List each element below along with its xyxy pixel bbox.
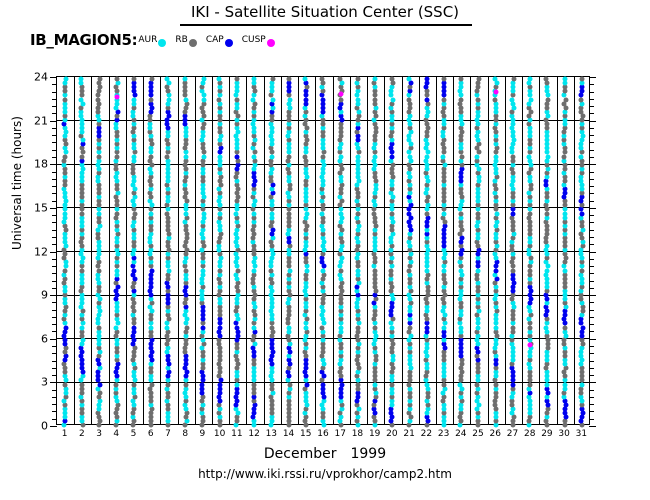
day-column <box>195 77 212 424</box>
day-column <box>419 77 436 424</box>
x-axis-tick-label: 29 <box>541 429 552 439</box>
data-point <box>97 77 102 82</box>
data-point <box>63 77 68 82</box>
day-column <box>488 77 505 424</box>
x-axis-tick-label: 28 <box>524 429 535 439</box>
data-point <box>338 77 343 82</box>
day-column <box>74 77 91 424</box>
title-underline <box>180 24 472 26</box>
day-column <box>212 77 229 424</box>
x-axis-tick-label: 3 <box>96 429 102 439</box>
data-point <box>149 77 154 82</box>
legend: IB_MAGION5: AURRBCAPCUSP <box>30 30 275 50</box>
legend-item-cusp: CUSP <box>242 34 275 47</box>
data-point <box>544 77 549 82</box>
x-axis-tick-label: 10 <box>214 429 225 439</box>
y-axis-tick <box>50 77 57 78</box>
data-point <box>424 77 429 82</box>
plot-area: 03691215182124 <box>56 76 590 425</box>
data-point <box>252 77 257 82</box>
x-axis-tick-label: 16 <box>317 429 328 439</box>
y-axis-tick-label: 9 <box>41 289 48 302</box>
x-axis-tick-label: 21 <box>403 429 414 439</box>
day-column <box>126 77 143 424</box>
day-column <box>333 77 350 424</box>
day-column <box>178 77 195 424</box>
y-axis-tick-label: 15 <box>34 201 48 214</box>
x-axis-tick-label: 14 <box>283 429 294 439</box>
legend-item-label: AUR <box>138 35 157 45</box>
y-axis-tick-label: 3 <box>41 376 48 389</box>
x-axis-tick-label: 15 <box>300 429 311 439</box>
data-point <box>270 77 275 82</box>
data-point <box>493 77 498 82</box>
data-point-cusp <box>338 92 343 97</box>
y-axis-tick <box>50 339 57 340</box>
y-axis-tick <box>50 382 57 383</box>
y-axis-tick <box>50 426 57 427</box>
legend-item-label: RB <box>175 35 187 45</box>
legend-swatch-cap-icon <box>225 39 233 47</box>
day-column <box>557 77 574 424</box>
y-axis-tick <box>50 295 57 296</box>
y-axis-title: Universal time (hours) <box>10 116 24 250</box>
x-axis-tick-label: 1 <box>62 429 68 439</box>
legend-satellite-label: IB_MAGION5: <box>30 31 137 49</box>
data-point <box>528 77 533 82</box>
page-title: IKI - Satellite Situation Center (SSC) <box>0 3 650 21</box>
x-axis-tick-label: 30 <box>558 429 569 439</box>
x-axis-tick-label: 26 <box>490 429 501 439</box>
data-point <box>372 77 377 82</box>
x-axis-tick-label: 12 <box>248 429 259 439</box>
day-column <box>160 77 177 424</box>
x-axis-month: December <box>264 446 337 462</box>
legend-swatch-cusp-icon <box>267 39 275 47</box>
data-point <box>442 77 447 82</box>
data-point <box>390 77 395 82</box>
legend-items: AURRBCAPCUSP <box>137 34 274 47</box>
x-axis-tick-label: 18 <box>352 429 363 439</box>
y-axis-tick-label: 6 <box>41 332 48 345</box>
source-url[interactable]: http://www.iki.rssi.ru/vprokhor/camp2.ht… <box>0 467 650 481</box>
y-axis-tick <box>50 252 57 253</box>
day-column <box>264 77 281 424</box>
data-point <box>320 77 325 82</box>
data-point <box>217 77 222 82</box>
legend-item-aur: AUR <box>138 34 166 47</box>
x-axis-tick-label: 27 <box>507 429 518 439</box>
data-point <box>563 77 568 82</box>
x-axis-tick-label: 24 <box>455 429 466 439</box>
legend-item-rb: RB <box>175 34 196 47</box>
data-point-cusp <box>114 95 119 100</box>
data-point <box>476 77 481 82</box>
data-point <box>183 77 188 82</box>
x-axis-tick-label: 17 <box>334 429 345 439</box>
day-column <box>384 77 401 424</box>
x-axis-tick-label: 31 <box>576 429 587 439</box>
day-column <box>315 77 332 424</box>
day-column <box>402 77 419 424</box>
data-point <box>201 77 206 82</box>
legend-item-label: CUSP <box>242 35 266 45</box>
data-point <box>234 77 239 82</box>
day-column <box>229 77 246 424</box>
y-axis-tick <box>50 164 57 165</box>
y-axis-tick-right <box>589 426 596 427</box>
data-point <box>303 77 308 82</box>
day-column <box>350 77 367 424</box>
data-point <box>579 77 584 82</box>
day-column <box>453 77 470 424</box>
y-axis-tick <box>50 208 57 209</box>
day-column <box>57 77 74 424</box>
day-column <box>505 77 522 424</box>
x-axis-tick-label: 11 <box>231 429 242 439</box>
data-point <box>165 77 170 82</box>
x-axis-tick-labels: 1234567891011121314151617181920212223242… <box>56 429 590 443</box>
x-axis-tick-label: 8 <box>182 429 188 439</box>
day-column <box>109 77 126 424</box>
day-column <box>436 77 453 424</box>
x-axis-tick-label: 19 <box>369 429 380 439</box>
x-axis-year: 1999 <box>350 446 386 462</box>
day-column <box>574 77 591 424</box>
data-point <box>79 77 84 82</box>
day-column <box>367 77 384 424</box>
day-column <box>522 77 539 424</box>
x-axis-tick-label: 13 <box>266 429 277 439</box>
y-axis-tick-label: 24 <box>34 71 48 84</box>
x-axis-title: December1999 <box>0 446 650 462</box>
data-point-cusp <box>527 342 532 347</box>
x-axis-tick-label: 23 <box>438 429 449 439</box>
day-column <box>91 77 108 424</box>
x-axis-tick-label: 22 <box>421 429 432 439</box>
legend-item-label: CAP <box>206 35 224 45</box>
data-point <box>287 77 292 82</box>
x-axis-tick-label: 5 <box>131 429 137 439</box>
day-column <box>298 77 315 424</box>
day-column <box>539 77 556 424</box>
y-axis-tick-label: 21 <box>34 114 48 127</box>
x-axis-tick-label: 9 <box>200 429 206 439</box>
x-axis-tick-label: 7 <box>165 429 171 439</box>
day-column <box>470 77 487 424</box>
day-column <box>143 77 160 424</box>
data-point <box>355 77 360 82</box>
day-column <box>281 77 298 424</box>
ssc-plot-page: IKI - Satellite Situation Center (SSC) I… <box>0 0 650 500</box>
y-axis-tick <box>50 121 57 122</box>
y-axis-tick-label: 12 <box>34 245 48 258</box>
data-point <box>131 77 136 82</box>
x-axis-tick-label: 20 <box>386 429 397 439</box>
legend-swatch-aur-icon <box>158 39 166 47</box>
day-column <box>246 77 263 424</box>
x-axis-tick-label: 2 <box>79 429 85 439</box>
x-axis-tick-label: 25 <box>472 429 483 439</box>
x-axis-tick-label: 4 <box>113 429 119 439</box>
legend-swatch-rb-icon <box>189 39 197 47</box>
data-point-cusp <box>493 89 498 94</box>
legend-item-cap: CAP <box>206 34 233 47</box>
data-point <box>114 77 119 82</box>
y-axis-tick-label: 0 <box>41 420 48 433</box>
data-point <box>458 77 463 82</box>
data-point <box>511 77 516 82</box>
data-point <box>407 77 412 82</box>
x-axis-tick-label: 6 <box>148 429 154 439</box>
y-axis-tick-label: 18 <box>34 158 48 171</box>
